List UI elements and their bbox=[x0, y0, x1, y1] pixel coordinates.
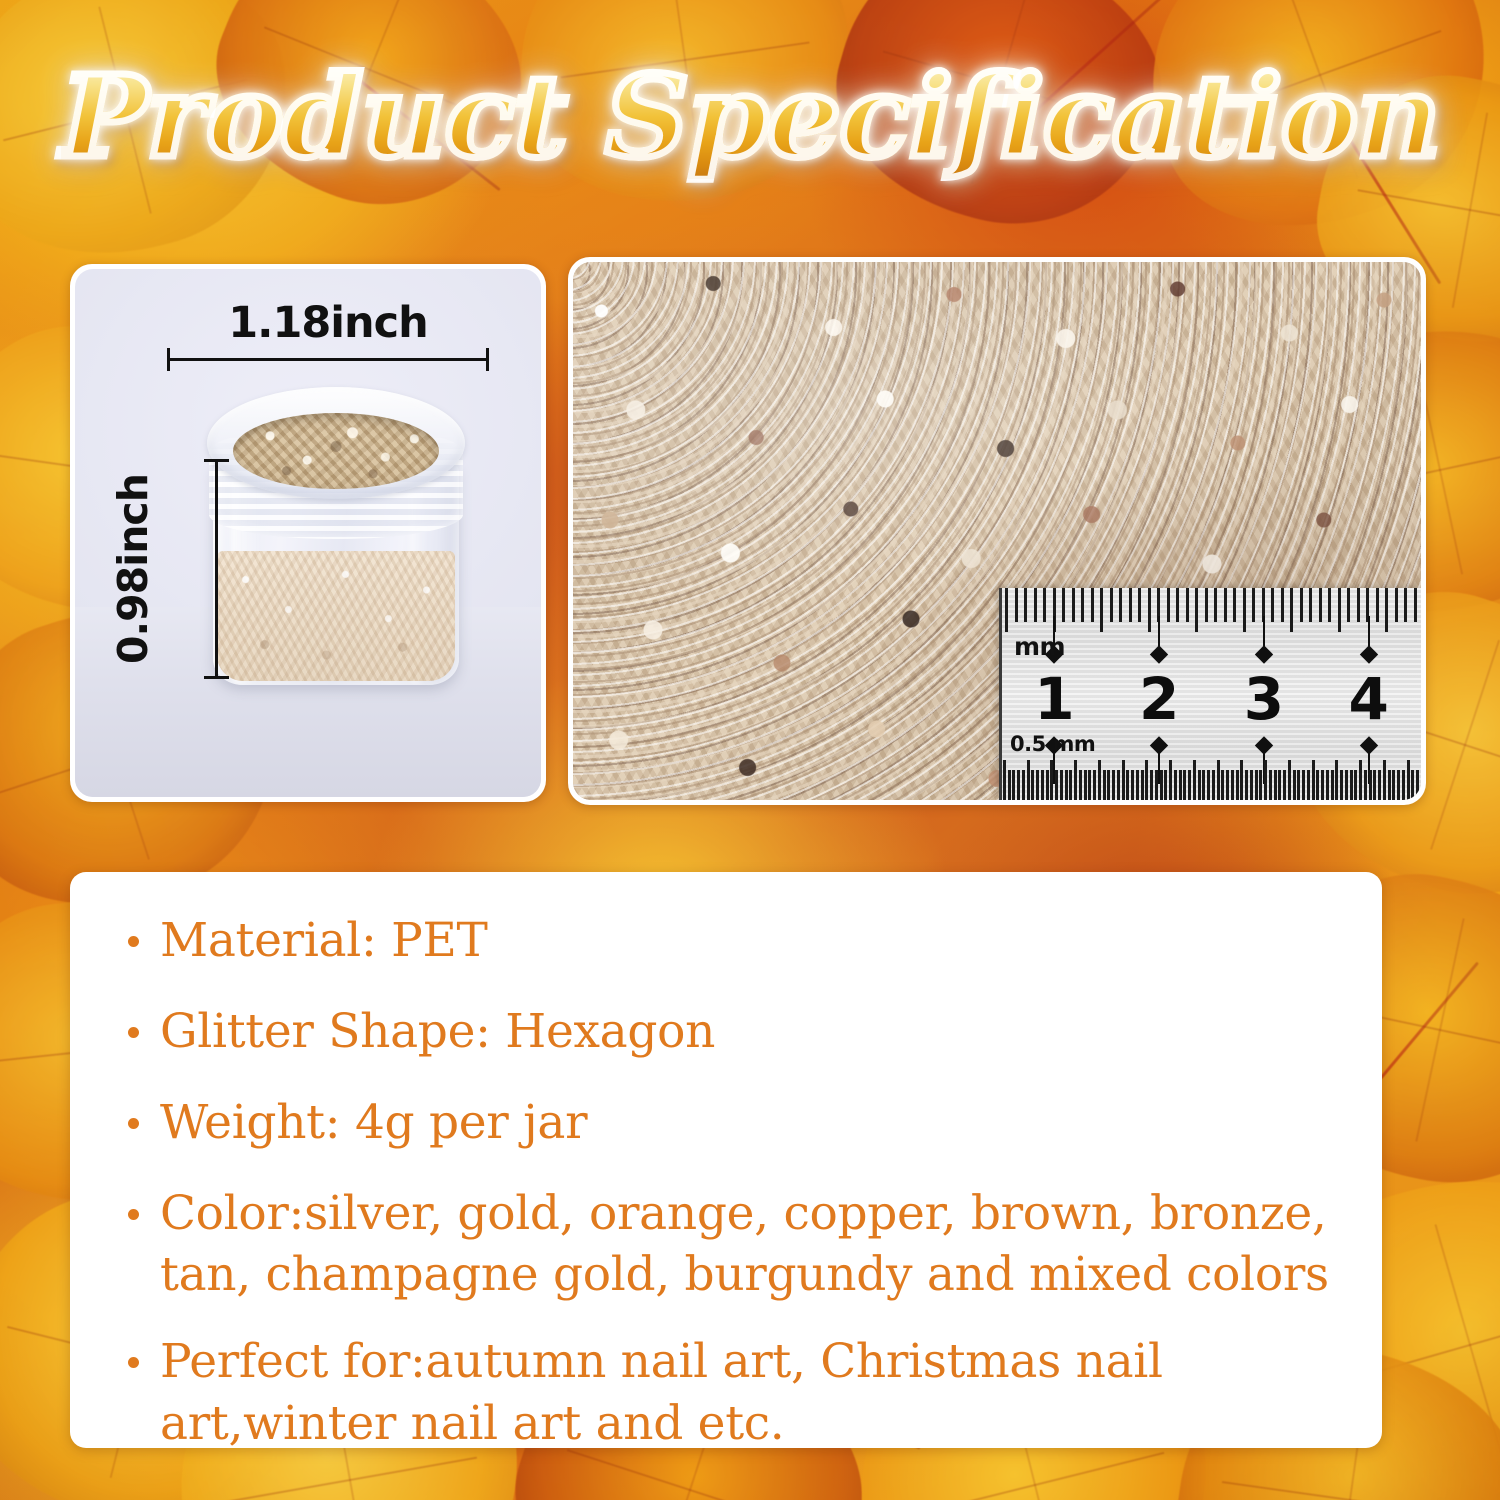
ruler-tick bbox=[1041, 770, 1044, 800]
ruler-tick bbox=[1255, 770, 1258, 800]
ruler-number: 2 bbox=[1107, 660, 1212, 738]
ruler-tick bbox=[1274, 770, 1277, 800]
ruler-tick bbox=[1107, 770, 1110, 800]
ruler-diamond-marker bbox=[1359, 645, 1377, 663]
ruler-tick bbox=[1015, 588, 1018, 622]
ruler-diamond-marker bbox=[1255, 645, 1273, 663]
ruler-tick bbox=[1212, 770, 1215, 800]
ruler-tick bbox=[1264, 760, 1267, 800]
ruler-tick bbox=[1103, 770, 1106, 800]
ruler-tick bbox=[1202, 770, 1205, 800]
ruler-tick bbox=[1416, 770, 1419, 800]
ruler-tick bbox=[1122, 760, 1125, 800]
ruler-tick bbox=[1055, 770, 1058, 800]
ruler-tick bbox=[1388, 770, 1391, 800]
ruler-tick bbox=[1069, 770, 1072, 800]
ruler-tick bbox=[1231, 770, 1234, 800]
ruler-tick bbox=[1062, 588, 1065, 622]
ruler-tick bbox=[1179, 770, 1182, 800]
ruler-tick bbox=[1300, 588, 1303, 622]
ruler-tick bbox=[1129, 588, 1132, 622]
ruler-tick bbox=[1126, 770, 1129, 800]
ruler-tick bbox=[1174, 770, 1177, 800]
ruler-tick bbox=[1259, 770, 1262, 800]
ruler-tick bbox=[1088, 770, 1091, 800]
ruler-tick bbox=[1373, 770, 1376, 800]
glitter-macro-panel: 1234 mm 0.5 mm bbox=[568, 257, 1426, 805]
ruler-number-label: 1 bbox=[1034, 665, 1074, 733]
ruler-diamond-marker bbox=[1150, 645, 1168, 663]
ruler-tick bbox=[1186, 588, 1189, 622]
ruler-tick bbox=[1404, 588, 1407, 622]
ruler-tick bbox=[1141, 770, 1144, 800]
ruler-tick bbox=[1309, 588, 1312, 622]
ruler-tick bbox=[1302, 770, 1305, 800]
ruler-tick bbox=[1369, 770, 1372, 800]
page-title: Product Specification bbox=[61, 58, 1440, 179]
ruler-tick bbox=[1321, 770, 1324, 800]
jar-opening-glitter bbox=[233, 413, 439, 489]
ruler-tick bbox=[1008, 770, 1011, 800]
glitter-macro-photo: 1234 mm 0.5 mm bbox=[573, 262, 1421, 800]
ruler-tick bbox=[1385, 588, 1388, 632]
ruler-tick bbox=[1183, 770, 1186, 800]
ruler-number: 4 bbox=[1316, 660, 1421, 738]
ruler-tick bbox=[1072, 588, 1075, 622]
ruler-tick bbox=[1131, 770, 1134, 800]
ruler-tick bbox=[1034, 588, 1037, 622]
ruler-tick bbox=[1155, 770, 1158, 800]
ruler-unit-half-mm-label: 0.5 mm bbox=[1010, 732, 1095, 756]
ruler-tick bbox=[1335, 760, 1338, 800]
ruler-tick bbox=[1397, 770, 1400, 800]
ruler-number-row: 1234 bbox=[1002, 660, 1421, 738]
ruler-tick bbox=[1271, 588, 1274, 622]
ruler-tick bbox=[1395, 588, 1398, 622]
jar-dimension-panel: 1.18inch 0.98inch bbox=[70, 264, 546, 802]
ruler-unit-mm-label: mm bbox=[1014, 632, 1065, 661]
spec-bullet: Color:silver, gold, orange, copper, brow… bbox=[114, 1183, 1338, 1305]
ruler-tick bbox=[1345, 770, 1348, 800]
ruler-number: 1 bbox=[1002, 660, 1107, 738]
width-dimension-bar bbox=[167, 358, 489, 361]
ruler-tick bbox=[1012, 770, 1015, 800]
height-dimension-label: 0.98inch bbox=[109, 459, 157, 679]
ruler-tick bbox=[1065, 770, 1068, 800]
ruler-number-label: 3 bbox=[1244, 665, 1284, 733]
ruler-tick bbox=[1252, 588, 1255, 622]
ruler-tick bbox=[1003, 760, 1006, 800]
ruler-tick bbox=[1407, 760, 1410, 800]
ruler-tick bbox=[1226, 770, 1229, 800]
ruler-tick bbox=[1378, 770, 1381, 800]
ruler-tick bbox=[1364, 770, 1367, 800]
ruler-tick bbox=[1411, 770, 1414, 800]
ruler-tick bbox=[1046, 770, 1049, 800]
ruler-tick bbox=[1160, 770, 1163, 800]
ruler-tick bbox=[1359, 760, 1362, 800]
ruler-tick bbox=[1017, 770, 1020, 800]
ruler-tick bbox=[1138, 588, 1141, 622]
ruler-tick bbox=[1050, 760, 1053, 800]
ruler-tick bbox=[1079, 770, 1082, 800]
spec-bullet: Glitter Shape: Hexagon bbox=[114, 1001, 1338, 1062]
ruler-tick bbox=[1278, 770, 1281, 800]
width-dimension-label: 1.18inch bbox=[167, 298, 489, 348]
ruler-tick bbox=[1074, 760, 1077, 800]
ruler-tick bbox=[1316, 770, 1319, 800]
ruler-tick bbox=[1205, 588, 1208, 622]
ruler-tick bbox=[1290, 588, 1293, 632]
ruler-tick bbox=[1376, 588, 1379, 622]
ruler-tick bbox=[1060, 770, 1063, 800]
ruler-tick bbox=[1198, 770, 1201, 800]
ruler-tick bbox=[1091, 588, 1094, 622]
ruler-number-label: 2 bbox=[1139, 665, 1179, 733]
ruler-number-label: 4 bbox=[1348, 665, 1388, 733]
ruler-tick bbox=[1145, 760, 1148, 800]
glitter-jar bbox=[207, 387, 465, 685]
ruler-tick bbox=[1167, 588, 1170, 622]
ruler-tick bbox=[1112, 770, 1115, 800]
ruler-tick bbox=[1169, 760, 1172, 800]
ruler-tick bbox=[1098, 760, 1101, 800]
ruler-tick bbox=[1269, 770, 1272, 800]
ruler-number: 3 bbox=[1212, 660, 1317, 738]
specification-list: Material: PET Glitter Shape: Hexagon Wei… bbox=[114, 910, 1338, 1454]
ruler-tick bbox=[1084, 770, 1087, 800]
ruler-tick bbox=[1392, 770, 1395, 800]
ruler-tick bbox=[1022, 770, 1025, 800]
ruler-tick bbox=[1354, 770, 1357, 800]
ruler-tick bbox=[1024, 588, 1027, 622]
product-spec-infographic: Product Specification 1.18inch 0.98inch bbox=[0, 0, 1500, 1500]
ruler-tick bbox=[1136, 770, 1139, 800]
ruler-tick bbox=[1164, 770, 1167, 800]
spec-bullet: Weight: 4g per jar bbox=[114, 1092, 1338, 1153]
ruler-tick bbox=[1043, 588, 1046, 622]
ruler-tick bbox=[1283, 770, 1286, 800]
ruler-tick bbox=[1319, 588, 1322, 622]
ruler-tick bbox=[1297, 770, 1300, 800]
ruler-tick bbox=[1207, 770, 1210, 800]
ruler-tick bbox=[1243, 588, 1246, 632]
jar-glitter-fill bbox=[217, 551, 455, 681]
ruler-tick bbox=[1195, 588, 1198, 632]
ruler-tick bbox=[1245, 770, 1248, 800]
ruler-tick bbox=[1414, 588, 1417, 622]
ruler-tick bbox=[1217, 760, 1220, 800]
ruler-tick bbox=[1338, 588, 1341, 632]
ruler-tick bbox=[1383, 760, 1386, 800]
ruler-tick bbox=[1236, 770, 1239, 800]
ruler-tick bbox=[1350, 770, 1353, 800]
ruler-tick bbox=[1328, 588, 1331, 622]
ruler-tick bbox=[1176, 588, 1179, 622]
ruler-tick bbox=[1117, 770, 1120, 800]
ruler-tick bbox=[1307, 770, 1310, 800]
ruler-tick bbox=[1193, 760, 1196, 800]
specification-card: Material: PET Glitter Shape: Hexagon Wei… bbox=[70, 872, 1382, 1448]
ruler-tick bbox=[1093, 770, 1096, 800]
ruler-tick bbox=[1150, 770, 1153, 800]
title-container: Product Specification bbox=[0, 58, 1500, 179]
ruler-tick bbox=[1293, 770, 1296, 800]
ruler-tick bbox=[1081, 588, 1084, 622]
ruler-tick bbox=[1233, 588, 1236, 622]
ruler-tick bbox=[1221, 770, 1224, 800]
ruler-tick bbox=[1288, 760, 1291, 800]
ruler-tick bbox=[1148, 588, 1151, 632]
ruler-tick bbox=[1402, 770, 1405, 800]
height-dimension-bar bbox=[215, 459, 218, 679]
jar-photo: 1.18inch 0.98inch bbox=[75, 269, 541, 797]
ruler-tick bbox=[1250, 770, 1253, 800]
ruler-tick bbox=[1214, 588, 1217, 622]
ruler-tick bbox=[1119, 588, 1122, 622]
mm-ruler-overlay: 1234 mm 0.5 mm bbox=[999, 588, 1421, 800]
ruler-tick bbox=[1281, 588, 1284, 622]
ruler-tick bbox=[1347, 588, 1350, 622]
spec-bullet: Material: PET bbox=[114, 910, 1338, 971]
ruler-tick bbox=[1331, 770, 1334, 800]
ruler-tick bbox=[1031, 770, 1034, 800]
ruler-tick bbox=[1100, 588, 1103, 632]
ruler-tick bbox=[1005, 588, 1008, 632]
ruler-tick bbox=[1240, 760, 1243, 800]
ruler-tick bbox=[1036, 770, 1039, 800]
ruler-tick bbox=[1357, 588, 1360, 622]
ruler-tick bbox=[1188, 770, 1191, 800]
ruler-tick bbox=[1027, 760, 1030, 800]
spec-bullet: Perfect for:autumn nail art, Christmas n… bbox=[114, 1331, 1338, 1453]
ruler-tick bbox=[1110, 588, 1113, 622]
ruler-tick bbox=[1312, 760, 1315, 800]
ruler-tick bbox=[1224, 588, 1227, 622]
ruler-tick bbox=[1340, 770, 1343, 800]
ruler-tick bbox=[1326, 770, 1329, 800]
